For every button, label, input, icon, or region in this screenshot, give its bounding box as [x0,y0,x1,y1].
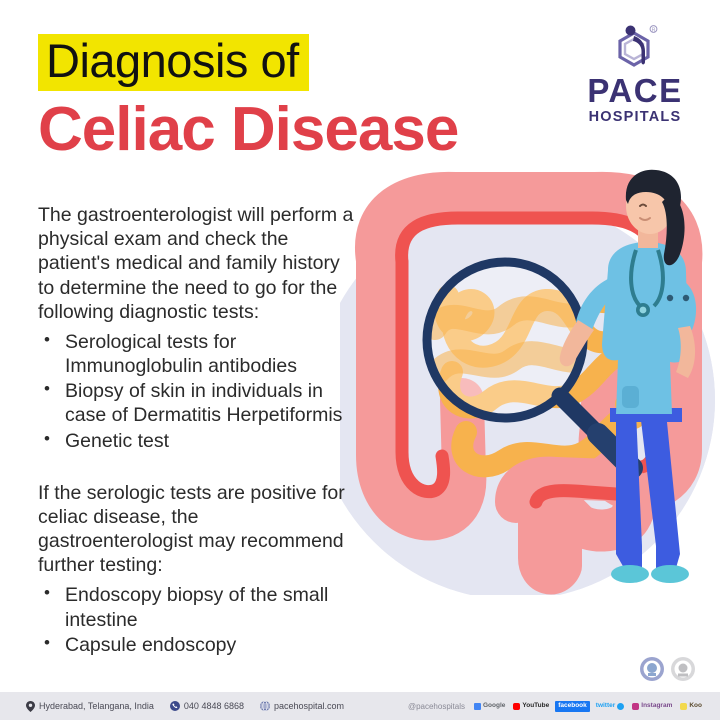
colon-magnifier-doctor-illustration [340,150,720,660]
youtube-glyph [513,703,520,710]
list-item: Serological tests for Immunoglobulin ant… [38,330,358,378]
google-label: Google [483,703,505,710]
instagram-glyph [632,703,639,710]
twitter-glyph [617,703,624,710]
intro-paragraph: The gastroenterologist will perform a ph… [38,203,358,324]
nabh-badge [639,656,665,682]
secondary-paragraph: If the serologic tests are positive for … [38,481,358,578]
logo-subtitle: HOSPITALS [574,110,696,125]
koo-icon[interactable]: Koo [678,701,704,712]
footer-website[interactable]: pacehospital.com [260,701,344,711]
social-handle: @pacehospitals [408,702,465,711]
instagram-label: Instagram [641,703,672,710]
location-pin-icon [26,701,35,712]
footer-location: Hyderabad, Telangana, India [26,701,154,712]
title-line-1-wrapper: Diagnosis of [38,34,578,91]
google-icon[interactable]: Google [472,701,507,712]
footer-contact-group: Hyderabad, Telangana, India 040 4848 686… [0,701,344,712]
svg-text:R: R [652,27,656,33]
list-item: Biopsy of skin in individuals in case of… [38,379,358,427]
brand-logo: R PACE HOSPITALS [574,22,696,125]
koo-glyph [680,703,687,710]
youtube-icon[interactable]: YouTube [511,701,551,712]
list-item: Capsule endoscopy [38,633,358,657]
infographic-poster: Diagnosis of Celiac Disease R PACE HOSPI… [0,0,720,720]
globe-icon [260,701,270,711]
list-item: Endoscopy biopsy of the small intestine [38,583,358,631]
accreditation-badges [639,656,696,682]
list-item: Genetic test [38,429,358,453]
logo-name: PACE [574,74,696,107]
youtube-label: YouTube [522,703,549,710]
koo-label: Koo [689,703,702,710]
instagram-icon[interactable]: Instagram [630,701,674,712]
footer-phone[interactable]: 040 4848 6868 [170,701,244,711]
primary-tests-list: Serological tests for Immunoglobulin ant… [38,330,358,453]
body-copy: The gastroenterologist will perform a ph… [38,203,358,658]
page-title: Diagnosis of Celiac Disease [38,34,578,162]
google-glyph [474,703,481,710]
twitter-icon[interactable]: twitter [594,701,627,712]
further-tests-list: Endoscopy biopsy of the small intestine … [38,583,358,657]
title-line-1: Diagnosis of [38,34,309,91]
footer-website-label: pacehospital.com [274,701,344,711]
phone-icon [170,701,180,711]
hexagon-person-icon: R [574,22,696,72]
footer-location-label: Hyderabad, Telangana, India [39,701,154,711]
footer-phone-label: 040 4848 6868 [184,701,244,711]
facebook-icon[interactable]: facebook [555,701,590,712]
twitter-label: twitter [596,703,616,710]
footer-social-group: @pacehospitals Google YouTube facebook t… [408,701,720,712]
footer-bar: Hyderabad, Telangana, India 040 4848 686… [0,692,720,720]
nabl-badge [670,656,696,682]
facebook-label: facebook [558,703,587,710]
